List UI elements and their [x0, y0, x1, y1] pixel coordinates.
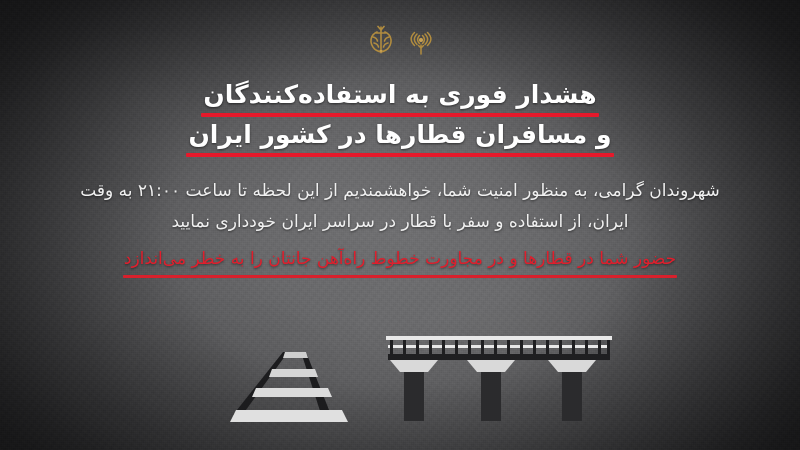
- headline-line-2: و مسافران قطارها در کشور ایران: [0, 116, 800, 156]
- track-sleeper: [283, 352, 308, 358]
- warning-block: حضور شما در قطارها و در مجاورت خطوط راه‌…: [0, 245, 800, 277]
- body-paragraph: شهروندان گرامی، به منظور امنیت شما، خواه…: [0, 176, 800, 238]
- track-rail-left: [233, 352, 288, 415]
- track-sleeper: [269, 369, 318, 377]
- bridge-railing-mid: [388, 345, 610, 348]
- bridge-deck: [388, 354, 610, 360]
- headline-line-1-text: هشدار فوری به استفاده‌کنندگان: [203, 76, 596, 116]
- idf-sword-olive-emblem: [366, 24, 396, 56]
- broadcast-tower-emblem: [408, 25, 434, 55]
- bridge-pillar: [481, 372, 501, 421]
- track-sleeper: [230, 410, 348, 422]
- bridge-pillar: [562, 372, 582, 421]
- railway-bridge-illustration: [386, 336, 612, 421]
- bridge-pier-cap: [390, 360, 438, 372]
- track-sleeper: [252, 388, 332, 397]
- bridge-railing-top: [386, 336, 612, 340]
- bridge-pillar: [404, 372, 424, 421]
- emblem-row: [0, 24, 800, 56]
- track-rail-right: [301, 352, 331, 415]
- headline-line-2-text: و مسافران قطارها در کشور ایران: [188, 116, 611, 156]
- headline-line-1: هشدار فوری به استفاده‌کنندگان: [0, 76, 800, 116]
- bridge-pier-cap: [467, 360, 515, 372]
- warning-text: حضور شما در قطارها و در مجاورت خطوط راه‌…: [124, 245, 676, 277]
- bridge-pier-cap: [548, 360, 596, 372]
- body-line-2: ایران، از استفاده و سفر با قطار در سراسر…: [0, 207, 800, 238]
- artwork: [0, 300, 800, 450]
- headline: هشدار فوری به استفاده‌کنندگان و مسافران …: [0, 76, 800, 156]
- warning-poster: هشدار فوری به استفاده‌کنندگان و مسافران …: [0, 0, 800, 450]
- railroad-track-illustration: [230, 352, 348, 422]
- body-line-1: شهروندان گرامی، به منظور امنیت شما، خواه…: [0, 176, 800, 207]
